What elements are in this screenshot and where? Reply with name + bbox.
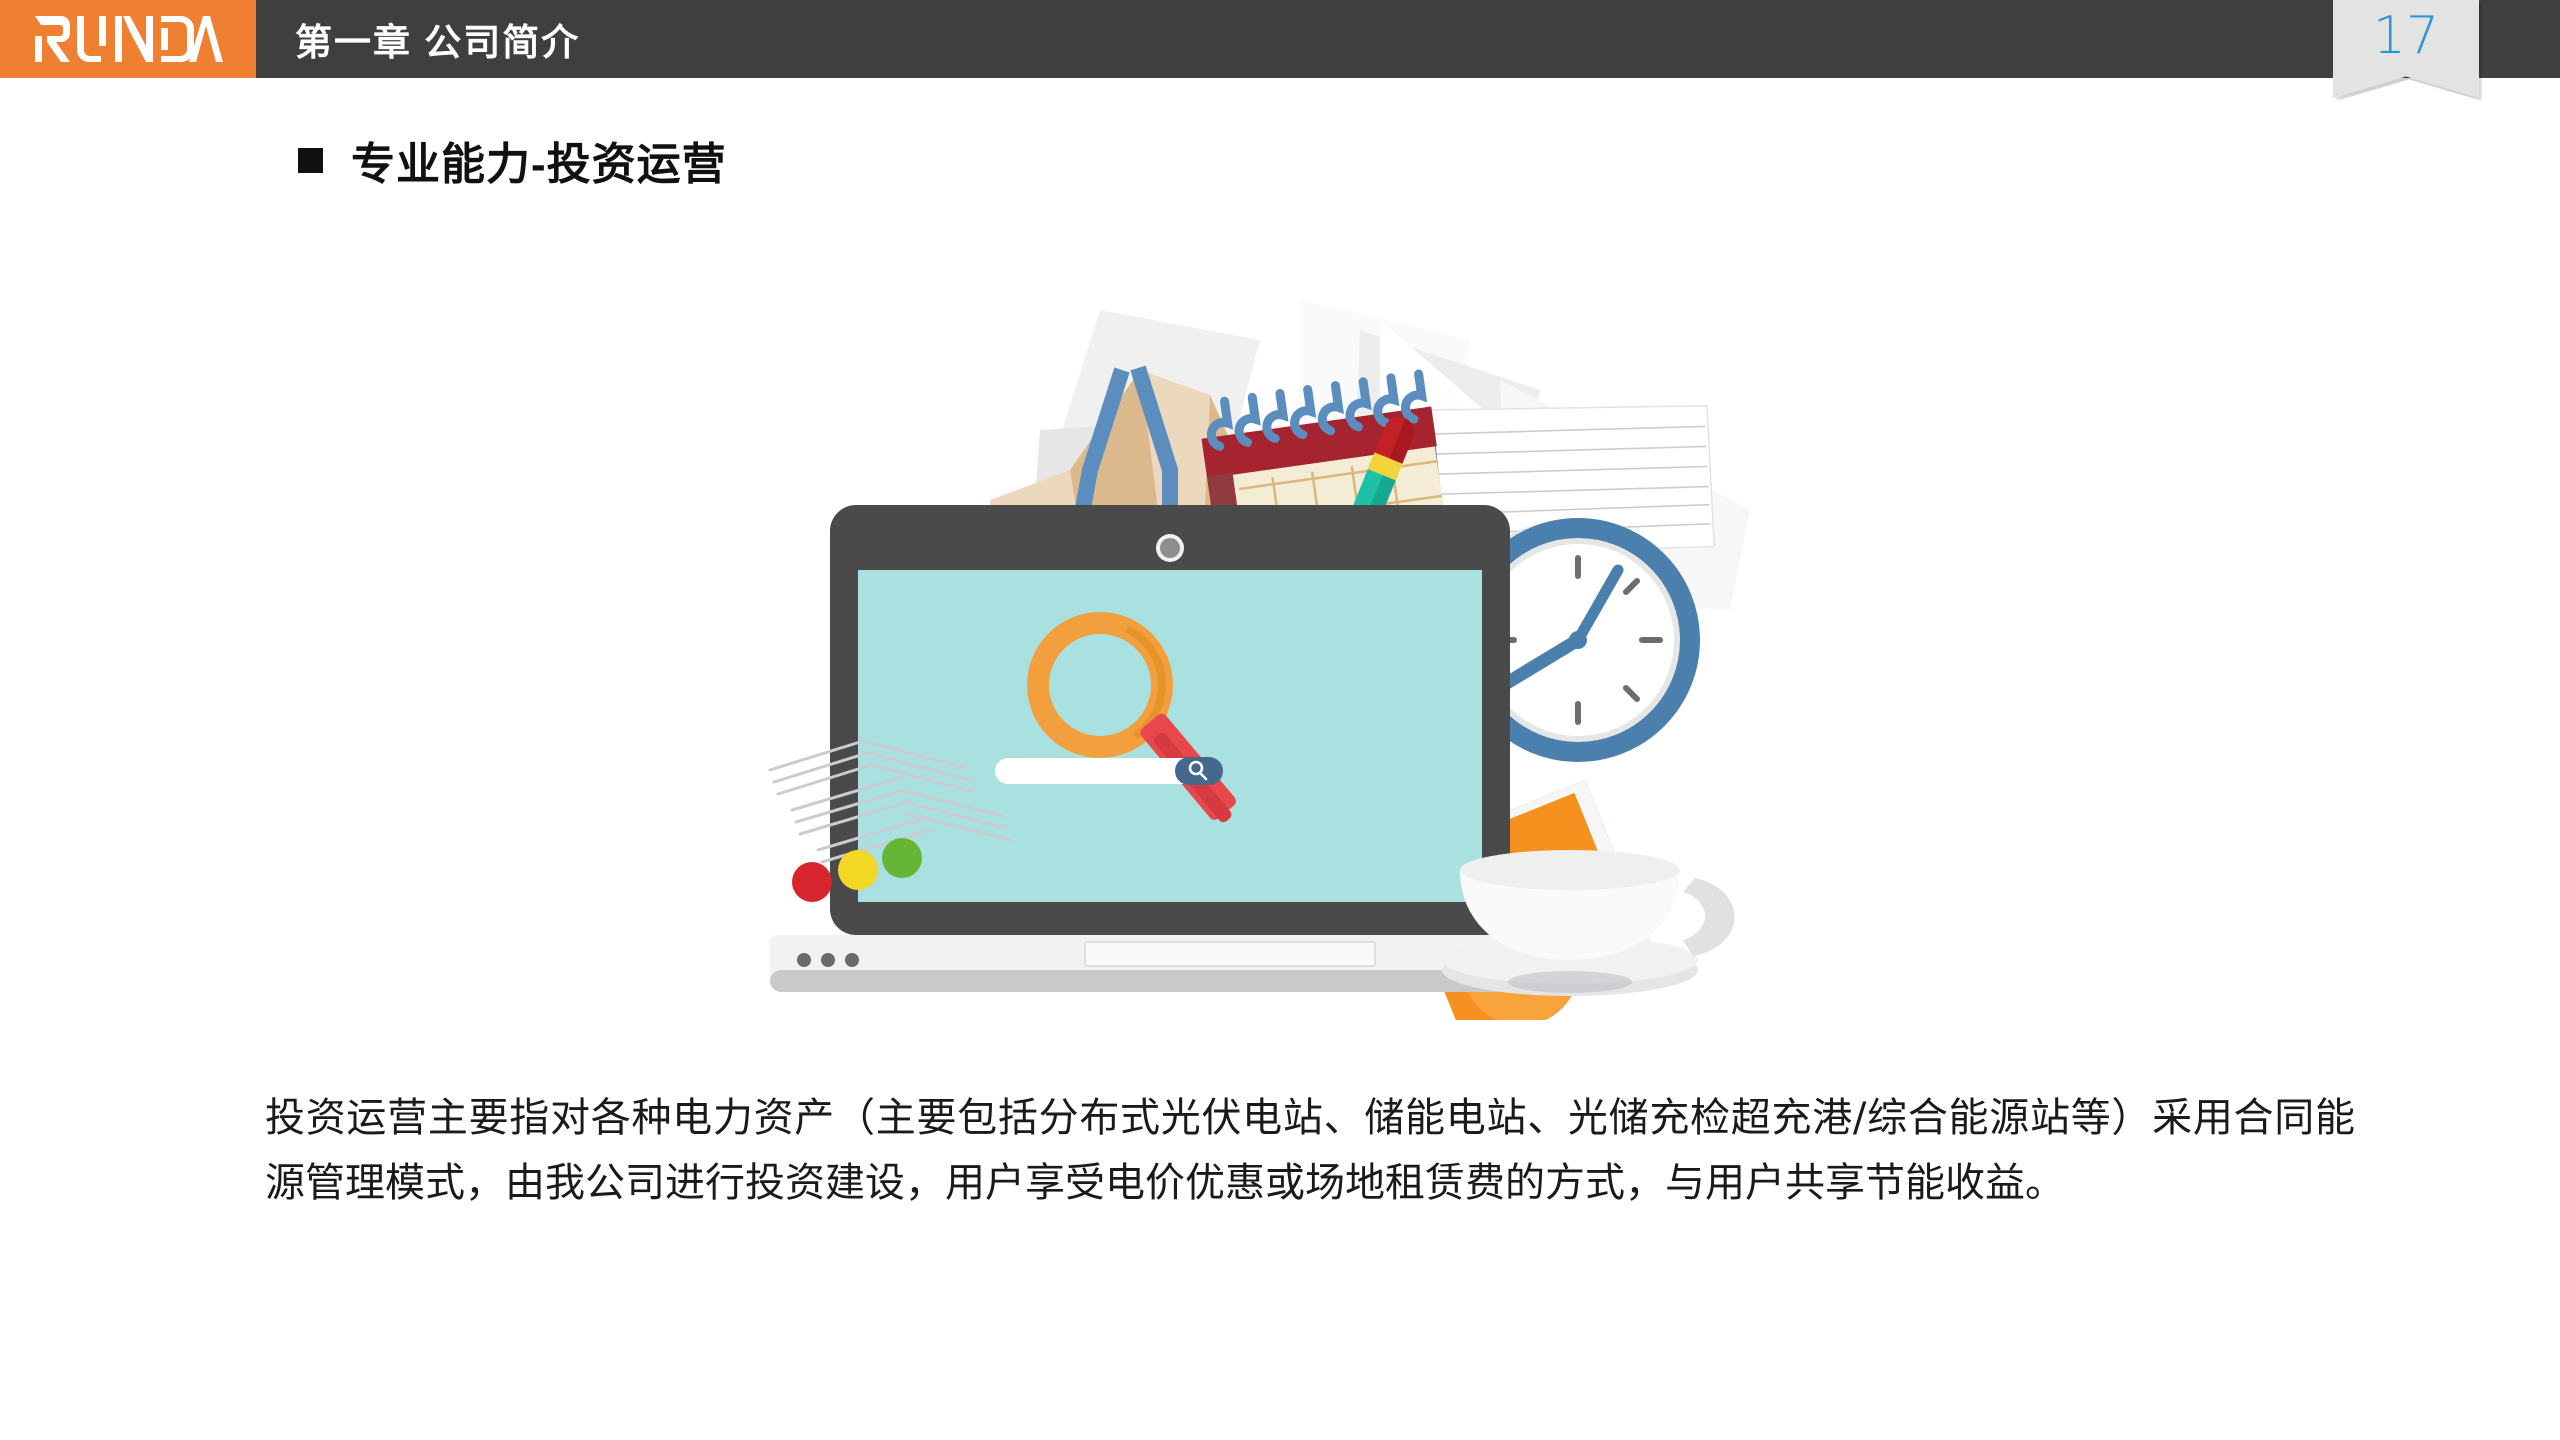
runda-logo-icon (33, 14, 223, 64)
illustration-svg (740, 270, 1820, 1020)
laptop-trackpad (1085, 942, 1375, 966)
search-input[interactable] (995, 758, 1205, 784)
search-workspace-illustration (740, 270, 1820, 1020)
search-bar[interactable] (995, 757, 1223, 785)
page-number: 17 (2373, 10, 2439, 62)
company-logo (0, 0, 256, 78)
square-bullet-icon (298, 148, 323, 173)
page-number-ribbon: 17 (2333, 0, 2479, 98)
laptop-indicator-dots (797, 953, 859, 967)
slide-title-row: 专业能力-投资运营 (298, 128, 727, 192)
search-button[interactable] (1175, 757, 1223, 785)
coffee-cup (1442, 850, 1734, 996)
body-paragraph: 投资运营主要指对各种电力资产（主要包括分布式光伏电站、储能电站、光储充检超充港/… (265, 1086, 2355, 1216)
cup-handle (1683, 878, 1734, 956)
chapter-title: 第一章 公司简介 (295, 0, 580, 78)
page-title: 专业能力-投资运营 (351, 128, 727, 192)
